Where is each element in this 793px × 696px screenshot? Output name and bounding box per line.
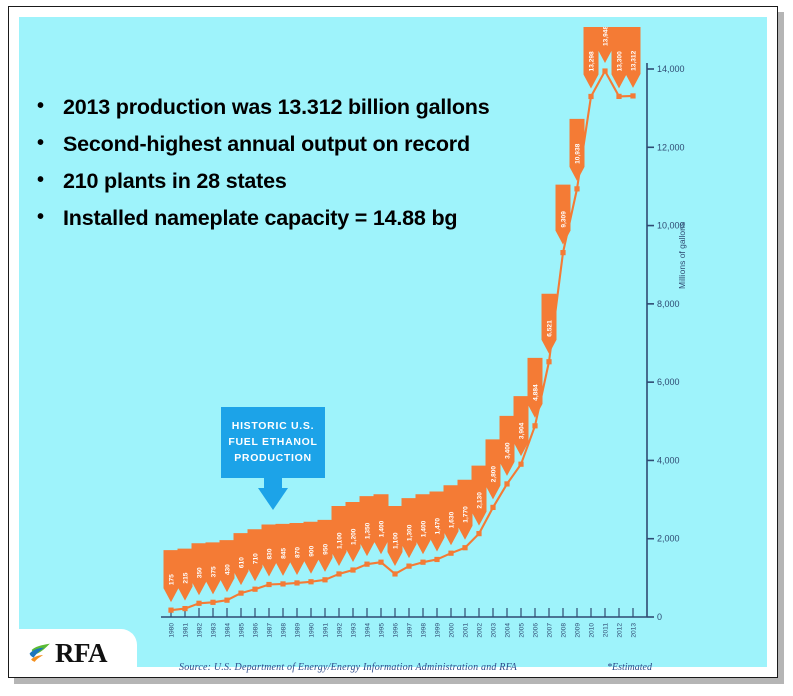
slide-frame: • 2013 production was 13.312 billion gal… bbox=[8, 6, 778, 678]
svg-text:1,350: 1,350 bbox=[364, 522, 371, 539]
bullet-marker-icon: • bbox=[37, 132, 63, 154]
svg-text:13,300: 13,300 bbox=[616, 51, 623, 72]
svg-text:2011: 2011 bbox=[602, 623, 609, 638]
y-axis-title: Millions of gallons bbox=[677, 222, 687, 289]
svg-text:1997: 1997 bbox=[406, 623, 413, 638]
svg-text:1988: 1988 bbox=[280, 623, 287, 638]
svg-text:2010: 2010 bbox=[588, 623, 595, 638]
svg-text:950: 950 bbox=[322, 543, 329, 554]
svg-text:1,100: 1,100 bbox=[392, 532, 399, 549]
svg-text:1996: 1996 bbox=[392, 623, 399, 638]
source-note: Source: U.S. Department of Energy/Energy… bbox=[179, 662, 517, 673]
svg-text:1983: 1983 bbox=[210, 623, 217, 638]
svg-text:215: 215 bbox=[182, 572, 189, 583]
svg-text:1,200: 1,200 bbox=[350, 528, 357, 545]
svg-text:1,470: 1,470 bbox=[434, 518, 441, 535]
svg-text:1995: 1995 bbox=[378, 623, 385, 638]
svg-text:2000: 2000 bbox=[448, 623, 455, 638]
svg-text:2003: 2003 bbox=[490, 623, 497, 638]
svg-text:1992: 1992 bbox=[336, 623, 343, 638]
svg-text:1,300: 1,300 bbox=[406, 524, 413, 541]
ethanol-production-chart: 02,0004,0006,0008,00010,00012,00014,0001… bbox=[159, 27, 719, 667]
svg-text:4,884: 4,884 bbox=[532, 384, 539, 401]
svg-text:2002: 2002 bbox=[476, 623, 483, 638]
bullet-marker-icon: • bbox=[37, 169, 63, 191]
svg-text:1980: 1980 bbox=[168, 623, 175, 638]
svg-text:13,948: 13,948 bbox=[602, 27, 609, 46]
svg-text:12,000: 12,000 bbox=[657, 142, 685, 152]
svg-text:375: 375 bbox=[210, 566, 217, 577]
svg-text:175: 175 bbox=[168, 574, 175, 585]
svg-text:9,309: 9,309 bbox=[560, 211, 567, 228]
svg-text:8,000: 8,000 bbox=[657, 299, 680, 309]
svg-text:1985: 1985 bbox=[238, 623, 245, 638]
svg-text:0: 0 bbox=[657, 612, 662, 622]
svg-text:1993: 1993 bbox=[350, 623, 357, 638]
bullet-marker-icon: • bbox=[37, 206, 63, 228]
svg-text:430: 430 bbox=[224, 564, 231, 575]
svg-text:1,400: 1,400 bbox=[420, 520, 427, 537]
svg-text:2005: 2005 bbox=[518, 623, 525, 638]
svg-text:2008: 2008 bbox=[560, 623, 567, 638]
svg-text:2006: 2006 bbox=[532, 623, 539, 638]
rfa-leaf-icon bbox=[27, 640, 53, 666]
svg-text:14,000: 14,000 bbox=[657, 64, 685, 74]
svg-text:2,130: 2,130 bbox=[476, 492, 483, 509]
rfa-logo-text: RFA bbox=[55, 640, 107, 667]
svg-text:1994: 1994 bbox=[364, 623, 371, 638]
svg-text:610: 610 bbox=[238, 557, 245, 568]
svg-text:1982: 1982 bbox=[196, 623, 203, 638]
svg-text:830: 830 bbox=[266, 548, 273, 559]
bullet-marker-icon: • bbox=[37, 95, 63, 117]
svg-text:1990: 1990 bbox=[308, 623, 315, 638]
svg-text:1999: 1999 bbox=[434, 623, 441, 638]
svg-text:870: 870 bbox=[294, 547, 301, 558]
svg-text:710: 710 bbox=[252, 553, 259, 564]
svg-text:13,298: 13,298 bbox=[588, 51, 595, 72]
svg-text:2,800: 2,800 bbox=[490, 466, 497, 483]
estimated-note: *Estimated bbox=[607, 662, 652, 673]
svg-text:2001: 2001 bbox=[462, 623, 469, 638]
svg-text:1986: 1986 bbox=[252, 623, 259, 638]
svg-text:2013: 2013 bbox=[630, 623, 637, 638]
svg-text:1,100: 1,100 bbox=[336, 532, 343, 549]
svg-text:350: 350 bbox=[196, 567, 203, 578]
svg-text:2007: 2007 bbox=[546, 623, 553, 638]
svg-text:4,000: 4,000 bbox=[657, 455, 680, 465]
svg-text:6,000: 6,000 bbox=[657, 377, 680, 387]
svg-text:1989: 1989 bbox=[294, 623, 301, 638]
svg-text:3,904: 3,904 bbox=[518, 422, 525, 439]
svg-text:845: 845 bbox=[280, 548, 287, 559]
svg-text:1998: 1998 bbox=[420, 623, 427, 638]
svg-text:2004: 2004 bbox=[504, 623, 511, 638]
rfa-logo: RFA bbox=[19, 629, 137, 677]
svg-text:1981: 1981 bbox=[182, 623, 189, 638]
svg-text:1,400: 1,400 bbox=[378, 520, 385, 537]
svg-text:13,312: 13,312 bbox=[630, 50, 637, 71]
svg-text:1,630: 1,630 bbox=[448, 511, 455, 528]
svg-text:1984: 1984 bbox=[224, 623, 231, 638]
chart-svg: 02,0004,0006,0008,00010,00012,00014,0001… bbox=[159, 27, 719, 667]
svg-text:900: 900 bbox=[308, 545, 315, 556]
svg-text:1991: 1991 bbox=[322, 623, 329, 638]
svg-text:2,000: 2,000 bbox=[657, 534, 680, 544]
svg-text:1987: 1987 bbox=[266, 623, 273, 638]
svg-text:3,400: 3,400 bbox=[504, 442, 511, 459]
svg-text:2012: 2012 bbox=[616, 623, 623, 638]
svg-text:2009: 2009 bbox=[574, 623, 581, 638]
svg-text:1,770: 1,770 bbox=[462, 506, 469, 523]
